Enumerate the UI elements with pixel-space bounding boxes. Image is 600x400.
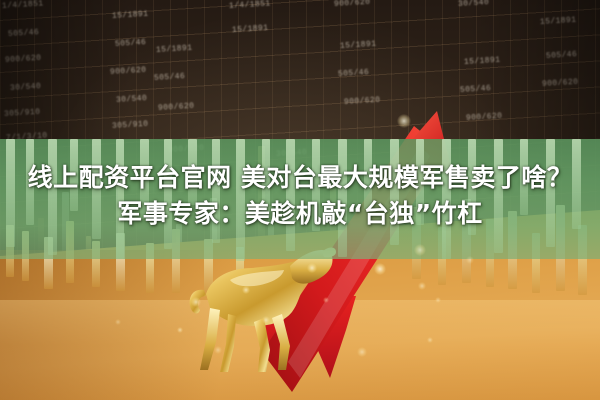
bull-svg: [186, 246, 336, 381]
headline-line-2: 军事专家：美趁机敲“台独”竹杠: [0, 196, 600, 232]
headline-line-1: 线上配资平台官网 美对台最大规模军售卖了啥？: [0, 160, 600, 196]
bull-rear-leg: [200, 308, 220, 370]
bull-front-leg: [272, 314, 290, 370]
article-thumbnail: 1/4/1851505/46900/62030/540305/9107/1/3/…: [0, 0, 600, 400]
bull-rear-leg-2: [220, 314, 236, 372]
headline: 线上配资平台官网 美对台最大规模军售卖了啥？ 军事专家：美趁机敲“台独”竹杠: [0, 160, 600, 232]
golden-bull-statue: [186, 246, 336, 381]
bull-front-leg-2: [254, 318, 270, 372]
bull-tail: [190, 290, 206, 314]
